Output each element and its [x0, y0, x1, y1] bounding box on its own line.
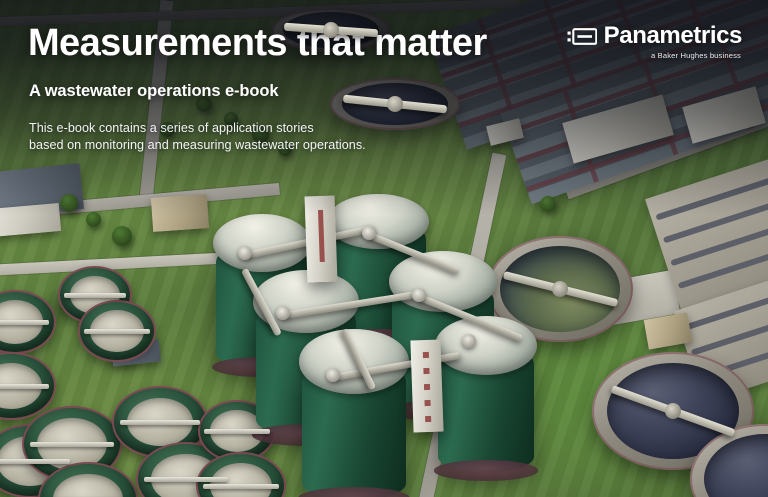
tank-scraper-arm [64, 293, 126, 298]
tank-scraper-arm [30, 442, 115, 447]
logo-row: Panametrics [567, 24, 742, 48]
ebook-cover: Measurements that matter A wastewater op… [0, 0, 768, 497]
tank-scraper-arm [120, 420, 201, 425]
tank-scraper-arm [0, 320, 49, 325]
clarifier-hub [387, 96, 403, 112]
tank-scraper-arm [84, 329, 149, 334]
page-title: Measurements that matter [28, 21, 487, 65]
tank-scraper-arm [203, 484, 279, 489]
description-line-1: This e-book contains a series of applica… [29, 120, 366, 137]
logo-wordmark: Panametrics [604, 24, 742, 48]
tank-scraper-arm [144, 477, 229, 482]
tank-scraper-arm [0, 459, 70, 464]
clarifier-hub [323, 22, 339, 38]
logo-tagline: a Baker Hughes business [651, 51, 741, 61]
tank-scraper-arm [0, 384, 49, 389]
description-line-2: based on monitoring and measuring wastew… [29, 137, 366, 154]
panametrics-mark-icon [567, 28, 597, 45]
tank-scraper-arm [204, 429, 269, 434]
page-subtitle: A wastewater operations e-book [29, 80, 278, 102]
panametrics-logo: Panametrics a Baker Hughes business [567, 24, 742, 61]
clarifier-hub [552, 281, 568, 297]
cover-content: Measurements that matter A wastewater op… [0, 0, 768, 497]
clarifier-hub [665, 403, 681, 419]
cover-description: This e-book contains a series of applica… [29, 120, 366, 153]
